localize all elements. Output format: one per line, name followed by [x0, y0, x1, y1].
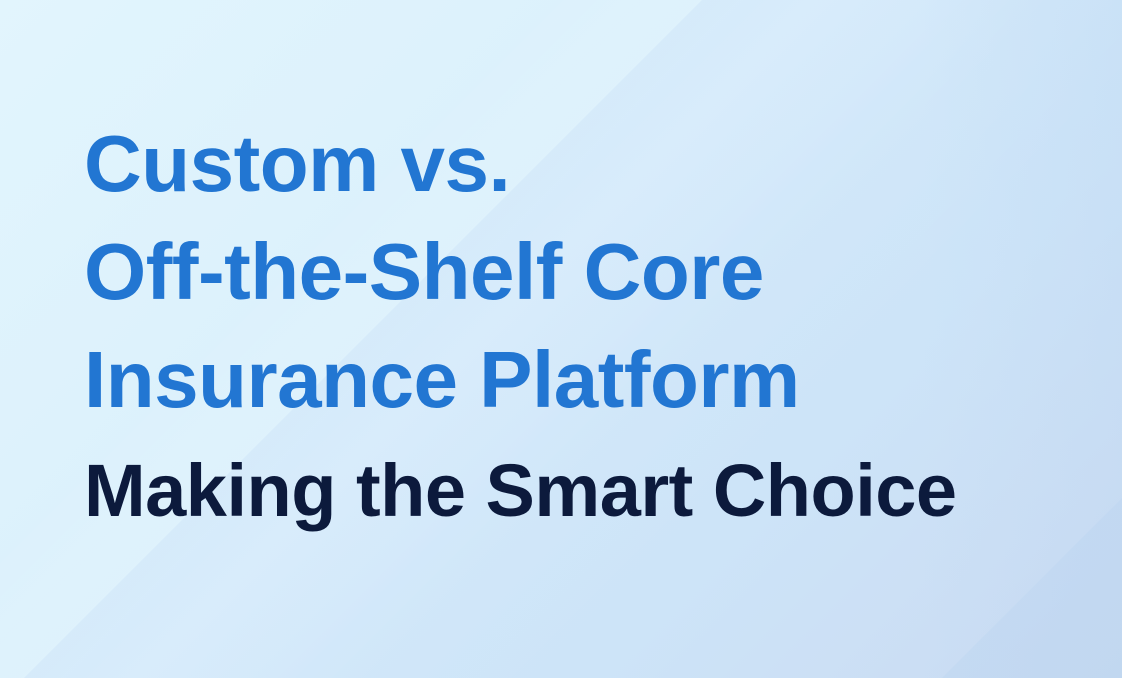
title-block: Custom vs. Off-the-Shelf Core Insurance …	[84, 110, 1044, 536]
page-title: Custom vs. Off-the-Shelf Core Insurance …	[84, 110, 1044, 434]
title-slide: Custom vs. Off-the-Shelf Core Insurance …	[0, 0, 1122, 678]
page-subtitle: Making the Smart Choice	[84, 434, 1044, 536]
